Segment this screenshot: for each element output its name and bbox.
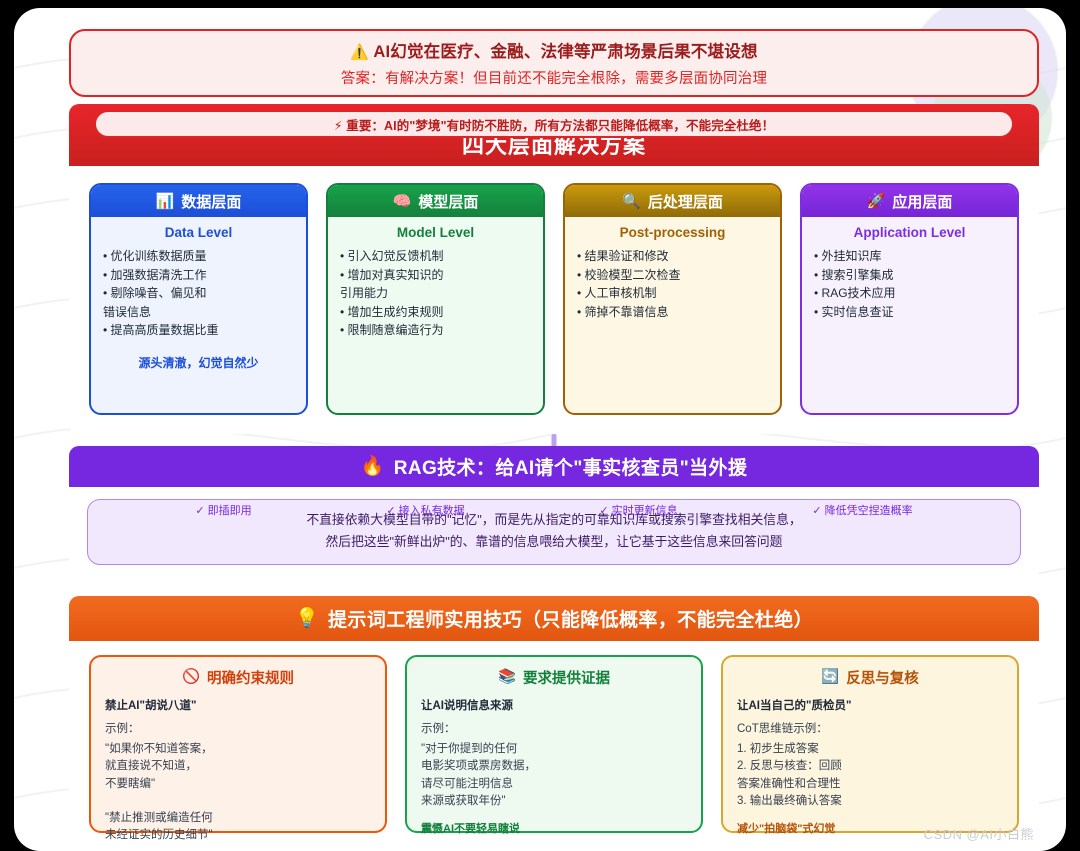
level-card-subtitle: Model Level — [328, 217, 543, 247]
level-card-body: • 优化训练数据质量 • 加强数据清洗工作 • 剔除噪音、偏见和 错误信息 • … — [91, 247, 306, 413]
tip-card-title-text: 反思与复核 — [846, 667, 919, 688]
level-card-subtitle: Application Level — [802, 217, 1017, 247]
watermark: CSDN @AI小白熊 — [924, 824, 1034, 843]
rag-body-wrap: ✓ 即插即用 ✓ 接入私有数据 ✓ 实时更新信息 ✓ 降低凭空捏造概率 不直接依… — [69, 487, 1039, 565]
level-card-footer — [814, 321, 1005, 335]
important-notice-pill: ⚡ 重要：AI的"梦境"有时防不胜防，所有方法都只能降低概率，不能完全杜绝！ — [94, 110, 1014, 138]
level-card-subtitle: Data Level — [91, 217, 306, 247]
level-card-footer: 源头清澈，幻觉自然少 — [103, 340, 294, 373]
tip-card-title: 🚫 明确约束规则 — [105, 667, 371, 688]
content-panel: ⚠️ AI幻觉在医疗、金融、法律等严肃场景后果不堪设想 答案：有解决方案！但目前… — [56, 16, 1052, 851]
rag-banner: 🔥 RAG技术：给AI请个"事实核查员"当外援 — [69, 446, 1039, 487]
tip-card-body: "如果你不知道答案， 就直接说不知道， 不要瞎编" "禁止推测或编造任何 未经证… — [105, 741, 371, 842]
important-notice-content: ⚡ 重要：AI的"梦境"有时防不胜防，所有方法都只能降低概率，不能完全杜绝！ — [334, 115, 774, 134]
level-card-title: 模型层面 — [418, 191, 478, 212]
tip-card-example-label: CoT思维链示例： — [737, 720, 1003, 736]
tip-card-title: 🔄 反思与复核 — [737, 667, 1003, 688]
prompt-banner: 💡 提示词工程师实用技巧（只能降低概率，不能完全杜绝） — [69, 596, 1039, 641]
tip-card-title: 📚 要求提供证据 — [421, 667, 687, 688]
level-card-header: 🚀 应用层面 — [802, 185, 1017, 217]
tip-card-body: 1. 初步生成答案 2. 反思与核查：回顾 答案准确性和合理性 3. 输出最终确… — [737, 741, 1003, 810]
tip-card-title-text: 明确约束规则 — [207, 667, 294, 688]
level-card-bullets: • 引入幻觉反馈机制 • 增加对真实知识的 引用能力 • 增加生成约束规则 • … — [340, 247, 531, 340]
level-card-title: 数据层面 — [181, 191, 241, 212]
alert-answer-text: 答案：有解决方案！但目前还不能完全根除，需要多层面协同治理 — [341, 67, 767, 88]
rag-benefits-row: ✓ 即插即用 ✓ 接入私有数据 ✓ 实时更新信息 ✓ 降低凭空捏造概率 — [88, 502, 1020, 518]
level-card-title: 后处理层面 — [648, 191, 723, 212]
tip-card-body: "对于你提到的任何 电影奖项或票房数据， 请尽可能注明信息 来源或获取年份" — [421, 741, 687, 810]
tip-card-title-text: 要求提供证据 — [523, 667, 610, 688]
rag-benefit-item: ✓ 实时更新信息 — [599, 502, 677, 518]
level-card-data: 📊 数据层面 Data Level • 优化训练数据质量 • 加强数据清洗工作 … — [89, 183, 308, 415]
page-root: ⚠️ AI幻觉在医疗、金融、法律等严肃场景后果不堪设想 答案：有解决方案！但目前… — [0, 0, 1080, 851]
level-card-footer — [340, 340, 531, 354]
level-card-application: 🚀 应用层面 Application Level • 外挂知识库 • 搜索引擎集… — [800, 183, 1019, 415]
level-cards-row: 📊 数据层面 Data Level • 优化训练数据质量 • 加强数据清洗工作 … — [69, 166, 1039, 415]
level-card-header: 📊 数据层面 — [91, 185, 306, 217]
lightning-icon: ⚡ — [334, 120, 343, 133]
level-card-header: 🔍 后处理层面 — [565, 185, 780, 217]
prompt-banner-title: 提示词工程师实用技巧（只能降低概率，不能完全杜绝） — [328, 605, 813, 632]
rag-banner-title: RAG技术：给AI请个"事实核查员"当外援 — [394, 453, 748, 480]
tip-card-lead: 让AI说明信息来源 — [421, 697, 687, 713]
prompt-tips-section: 💡 提示词工程师实用技巧（只能降低概率，不能完全杜绝） 🚫 明确约束规则 禁止A… — [69, 596, 1039, 842]
tip-card-lead: 禁止AI"胡说八道" — [105, 697, 371, 713]
tip-card-example-label: 示例： — [105, 720, 371, 736]
solutions-banner: ⚡ 重要：AI的"梦境"有时防不胜防，所有方法都只能降低概率，不能完全杜绝！ 四… — [69, 104, 1039, 166]
level-card-body: • 外挂知识库 • 搜索引擎集成 • RAG技术应用 • 实时信息查证 — [802, 247, 1017, 413]
magnifier-icon: 🔍 — [622, 194, 641, 209]
brain-icon: 🧠 — [393, 194, 412, 209]
level-card-postprocessing: 🔍 后处理层面 Post-processing • 结果验证和修改 • 校验模型… — [563, 183, 782, 415]
rag-description-box: ✓ 即插即用 ✓ 接入私有数据 ✓ 实时更新信息 ✓ 降低凭空捏造概率 不直接依… — [87, 499, 1021, 565]
rag-benefit-item: ✓ 即插即用 — [195, 502, 251, 518]
level-card-bullets: • 优化训练数据质量 • 加强数据清洗工作 • 剔除噪音、偏见和 错误信息 • … — [103, 247, 294, 340]
tip-card-footer: 震慑AI不要轻易瞎说 — [421, 820, 687, 836]
rag-paragraph-line-2: 然后把这些"新鲜出炉"的、靠谱的信息喂给大模型，让它基于这些信息来回答问题 — [88, 531, 1020, 553]
level-card-body: • 引入幻觉反馈机制 • 增加对真实知识的 引用能力 • 增加生成约束规则 • … — [328, 247, 543, 413]
books-icon: 📚 — [498, 670, 516, 685]
top-alert-box: ⚠️ AI幻觉在医疗、金融、法律等严肃场景后果不堪设想 答案：有解决方案！但目前… — [69, 29, 1039, 97]
tip-card-reflection: 🔄 反思与复核 让AI当自己的"质检员" CoT思维链示例： 1. 初步生成答案… — [721, 655, 1019, 833]
lightbulb-icon: 💡 — [295, 609, 319, 628]
level-card-bullets: • 结果验证和修改 • 校验模型二次检查 • 人工审核机制 • 筛掉不靠谱信息 — [577, 247, 768, 321]
level-card-subtitle: Post-processing — [565, 217, 780, 247]
tip-card-lead: 让AI当自己的"质检员" — [737, 697, 1003, 713]
refresh-icon: 🔄 — [821, 670, 839, 685]
fire-icon: 🔥 — [361, 457, 385, 476]
rag-benefit-item: ✓ 降低凭空捏造概率 — [812, 502, 912, 518]
level-card-body: • 结果验证和修改 • 校验模型二次检查 • 人工审核机制 • 筛掉不靠谱信息 — [565, 247, 780, 413]
solutions-section: ⚡ 重要：AI的"梦境"有时防不胜防，所有方法都只能降低概率，不能完全杜绝！ 四… — [69, 104, 1039, 434]
level-card-header: 🧠 模型层面 — [328, 185, 543, 217]
prompt-tips-row: 🚫 明确约束规则 禁止AI"胡说八道" 示例： "如果你不知道答案， 就直接说不… — [69, 641, 1039, 833]
warning-icon: ⚠️ — [350, 45, 369, 60]
page-sheet: ⚠️ AI幻觉在医疗、金融、法律等严肃场景后果不堪设想 答案：有解决方案！但目前… — [14, 8, 1066, 851]
alert-headline: ⚠️ AI幻觉在医疗、金融、法律等严肃场景后果不堪设想 — [350, 38, 757, 62]
rag-benefit-item: ✓ 接入私有数据 — [386, 502, 464, 518]
level-card-model: 🧠 模型层面 Model Level • 引入幻觉反馈机制 • 增加对真实知识的… — [326, 183, 545, 415]
tip-card-evidence: 📚 要求提供证据 让AI说明信息来源 示例： "对于你提到的任何 电影奖项或票房… — [405, 655, 703, 833]
tip-card-constraints: 🚫 明确约束规则 禁止AI"胡说八道" 示例： "如果你不知道答案， 就直接说不… — [89, 655, 387, 833]
level-card-bullets: • 外挂知识库 • 搜索引擎集成 • RAG技术应用 • 实时信息查证 — [814, 247, 1005, 321]
rag-section: 🔥 RAG技术：给AI请个"事实核查员"当外援 ✓ 即插即用 ✓ 接入私有数据 … — [69, 446, 1039, 585]
rocket-icon: 🚀 — [867, 194, 886, 209]
level-card-title: 应用层面 — [892, 191, 952, 212]
bar-chart-icon: 📊 — [156, 194, 175, 209]
alert-headline-text: AI幻觉在医疗、金融、法律等严肃场景后果不堪设想 — [373, 43, 757, 61]
important-notice-text: 重要：AI的"梦境"有时防不胜防，所有方法都只能降低概率，不能完全杜绝！ — [346, 119, 774, 133]
level-card-footer — [577, 321, 768, 335]
prohibited-icon: 🚫 — [182, 670, 200, 685]
tip-card-example-label: 示例： — [421, 720, 687, 736]
